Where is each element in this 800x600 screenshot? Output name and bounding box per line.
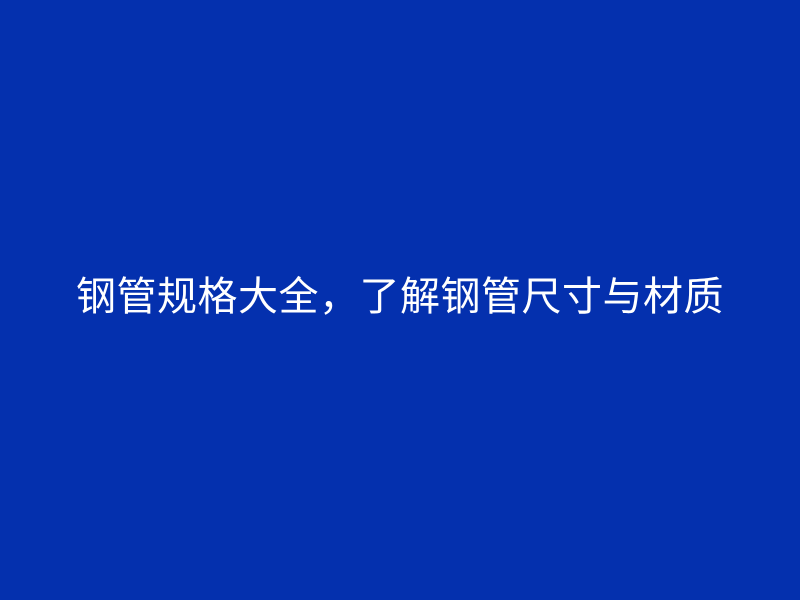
headline-container: 钢管规格大全，了解钢管尺寸与材质: [0, 0, 800, 600]
banner-headline: 钢管规格大全，了解钢管尺寸与材质: [76, 274, 724, 321]
banner-canvas: 钢管规格大全，了解钢管尺寸与材质: [0, 0, 800, 600]
